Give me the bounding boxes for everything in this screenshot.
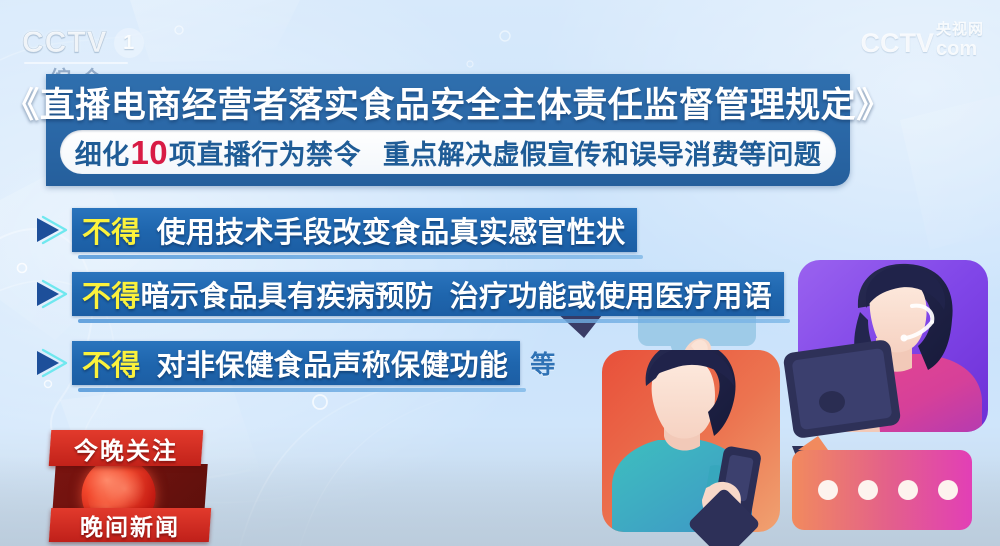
bullet-3-highlight: 不得 bbox=[82, 350, 141, 382]
bullet-2-highlight: 不得 bbox=[82, 281, 141, 313]
arrow-right-icon bbox=[34, 215, 68, 245]
badge-bottom-bar: 晚间新闻 bbox=[49, 508, 211, 542]
subtitle-mid: 项直播行为禁令 bbox=[169, 140, 361, 170]
program-badge: 今晚关注 晚间新闻 bbox=[36, 430, 216, 542]
badge-top-label: 今晚关注 bbox=[74, 431, 178, 466]
cctv-logo-text: CCTV bbox=[22, 26, 108, 60]
watermark-brand: CCTV bbox=[860, 28, 934, 59]
headline-subtitle-pill: 细化10项直播行为禁令重点解决虚假宣传和误导消费等问题 bbox=[60, 130, 836, 174]
bullet-3-text: 对非保健食品声称保健功能 bbox=[157, 350, 509, 382]
bullet-2-text-a: 暗示食品具有疾病预防 bbox=[141, 281, 434, 313]
bullet-1-highlight: 不得 bbox=[82, 217, 141, 249]
tablet-icon bbox=[783, 339, 902, 439]
badge-bottom-label: 晚间新闻 bbox=[80, 508, 180, 542]
broadcast-screen: CCTV 1 综合 CCTV 央视网 com bbox=[0, 0, 1000, 546]
bullet-banner-3: 不得对非保健食品声称保健功能 bbox=[72, 341, 520, 385]
headline-banner: 《直播电商经营者落实食品安全主体责任监督管理规定》 细化10项直播行为禁令重点解… bbox=[46, 74, 850, 186]
subtitle-pre: 细化 bbox=[75, 140, 130, 170]
arrow-right-icon bbox=[34, 279, 68, 309]
badge-top-bar: 今晚关注 bbox=[49, 430, 204, 466]
cctv1-logo: CCTV 1 bbox=[22, 26, 144, 60]
bullet-item-2: 不得暗示食品具有疾病预防治疗功能或使用医疗用语 bbox=[34, 272, 784, 316]
badge-globe-panel bbox=[52, 464, 207, 514]
bullet-2-text-b: 治疗功能或使用医疗用语 bbox=[450, 281, 772, 313]
red-globe-icon bbox=[82, 464, 156, 514]
subtitle-post: 重点解决虚假宣传和误导消费等问题 bbox=[383, 140, 821, 170]
typing-dots-bubble bbox=[792, 436, 972, 530]
arrow-right-icon bbox=[34, 348, 68, 378]
bullet-3-suffix: 等 bbox=[530, 345, 555, 381]
subtitle-number: 10 bbox=[130, 134, 170, 171]
bullet-item-1: 不得使用技术手段改变食品真实感官性状 bbox=[34, 208, 637, 252]
watermark-domain: com bbox=[936, 39, 984, 59]
watermark-cn-label: 央视网 bbox=[936, 22, 984, 37]
bullet-banner-1: 不得使用技术手段改变食品真实感官性状 bbox=[72, 208, 637, 252]
headline-subtitle: 细化10项直播行为禁令重点解决虚假宣传和误导消费等问题 bbox=[75, 133, 822, 172]
headline-title: 《直播电商经营者落实食品安全主体责任监督管理规定》 bbox=[46, 78, 850, 126]
bullet-banner-2: 不得暗示食品具有疾病预防治疗功能或使用医疗用语 bbox=[72, 272, 784, 316]
cctv-com-watermark: CCTV 央视网 com bbox=[860, 22, 984, 59]
bullet-1-text: 使用技术手段改变食品真实感官性状 bbox=[157, 217, 626, 249]
channel-number: 1 bbox=[114, 28, 144, 58]
bullet-item-3: 不得对非保健食品声称保健功能 等 bbox=[34, 341, 555, 385]
man-card bbox=[602, 341, 780, 532]
